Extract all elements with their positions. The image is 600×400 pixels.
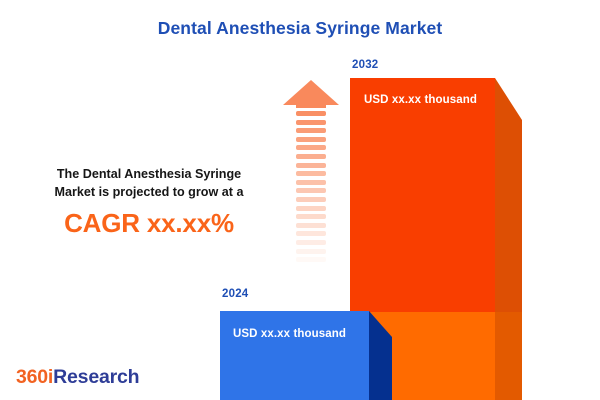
bar-2032-shelf-side-face: [495, 312, 522, 400]
arrow-segment: [296, 180, 326, 185]
cagr-statement: The Dental Anesthesia Syringe Market is …: [26, 166, 272, 239]
arrow-segment: [296, 111, 326, 116]
bar-value-label-2032: USD xx.xx thousand: [364, 94, 477, 106]
statement-line-1: The Dental Anesthesia Syringe: [26, 166, 272, 184]
bar-label-year-2032: 2032: [352, 59, 378, 71]
arrow-segment: [296, 145, 326, 150]
page-title: Dental Anesthesia Syringe Market: [0, 18, 600, 39]
statement-line-2: Market is projected to grow at a: [26, 184, 272, 202]
bar-value-label-2024: USD xx.xx thousand: [233, 328, 346, 340]
brand-logo: 360iResearch: [16, 366, 139, 389]
arrow-segment: [296, 128, 326, 133]
arrow-segment: [296, 223, 326, 228]
arrow-segment: [296, 188, 326, 193]
arrow-segment: [296, 163, 326, 168]
arrow-segment: [296, 249, 326, 254]
logo-text-360i: 360i: [16, 366, 53, 388]
arrow-segment: [296, 137, 326, 142]
arrow-segment: [296, 154, 326, 159]
arrow-segment: [296, 240, 326, 245]
arrow-segment: [296, 266, 326, 271]
bar-2024: [220, 311, 392, 400]
arrow-segment: [296, 214, 326, 219]
arrow-segment: [296, 120, 326, 125]
arrow-segment: [296, 171, 326, 176]
arrow-segment: [296, 231, 326, 236]
logo-text-research: Research: [53, 366, 139, 388]
bar-label-year-2024: 2024: [222, 288, 248, 300]
arrow-segment: [296, 206, 326, 211]
arrow-shaft: [296, 111, 326, 285]
arrow-segment: [296, 257, 326, 262]
cagr-value: CAGR xx.xx%: [26, 208, 272, 239]
arrow-head-icon: [283, 80, 339, 105]
bar-2024-front-face: [220, 311, 369, 400]
market-infographic: Dental Anesthesia Syringe Market 2032 US…: [0, 0, 600, 400]
arrow-neck: [296, 103, 326, 108]
growth-arrow-icon: [283, 80, 341, 285]
arrow-segment: [296, 197, 326, 202]
